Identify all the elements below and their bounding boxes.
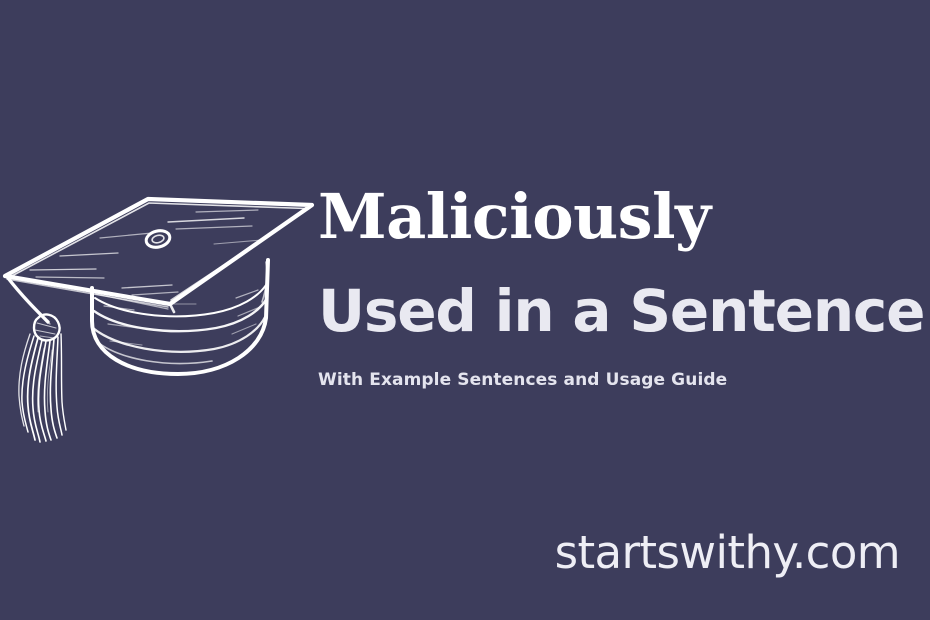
page-title: Maliciously bbox=[318, 186, 918, 248]
hero-text-block: Maliciously Used in a Sentence With Exam… bbox=[318, 186, 918, 389]
headline: Used in a Sentence bbox=[318, 248, 918, 340]
poster-canvas: Maliciously Used in a Sentence With Exam… bbox=[0, 0, 930, 620]
graduation-cap-icon bbox=[0, 178, 320, 450]
brand-wordmark: startswithy.com bbox=[555, 530, 900, 575]
tagline: With Example Sentences and Usage Guide bbox=[318, 340, 918, 389]
